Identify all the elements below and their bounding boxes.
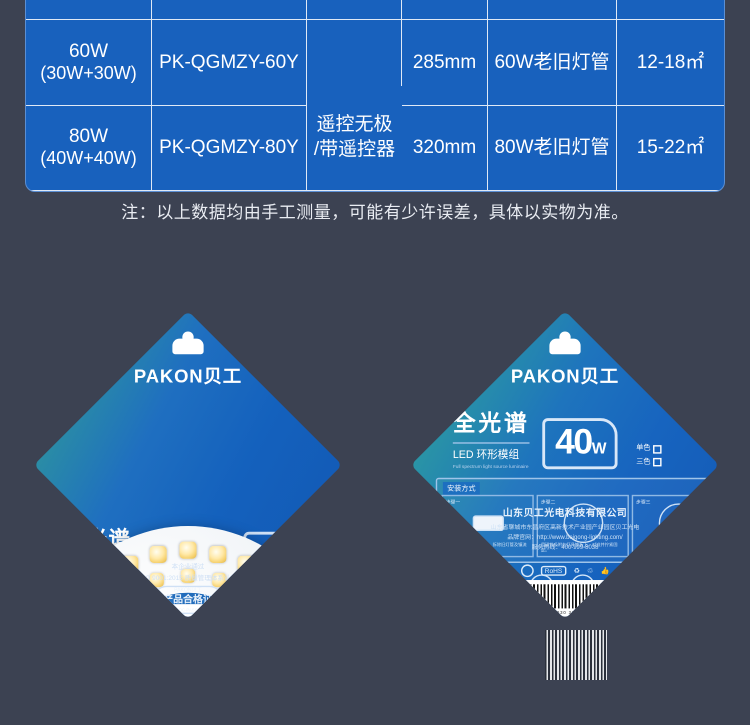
led-chip	[77, 596, 94, 613]
feature-icon-glyph: ¥	[570, 611, 594, 619]
led-chip	[150, 545, 167, 562]
cert-line-2: ISO 9001:2015 质量管理体系认证	[34, 572, 342, 582]
feature-icon-caption: 长寿命	[483, 600, 517, 607]
feature-icon: U超薄设计	[441, 574, 475, 607]
installation-title: 安装方式	[443, 482, 480, 495]
led-chip	[209, 545, 226, 562]
brand-logo-front: PAKON贝工	[34, 361, 342, 388]
cell-replace: 40W老旧灯管	[488, 0, 617, 19]
product-detail-page: 40W (20W+20W) PK-QGMZY-40S 三色变光 245mm 40…	[0, 0, 750, 725]
watt-options: 单色 三色	[306, 560, 319, 579]
cell-replace: 60W老旧灯管	[488, 20, 617, 104]
back-title-group: 全光谱 LED 环形模组 Full spectrum light source …	[453, 404, 530, 469]
led-chip	[122, 588, 136, 602]
barcode-bars	[520, 584, 611, 608]
power-main: 60W	[69, 41, 108, 63]
watt-number: 40	[555, 422, 592, 463]
step-title: 步骤一	[446, 498, 460, 505]
quality-seal: PAKON贝工 产品合格证 QC-PASS	[153, 586, 224, 614]
step-title: 步骤三	[636, 498, 650, 505]
cell-area: 15-22㎡	[617, 106, 724, 190]
cell-size: 285mm	[402, 20, 488, 104]
watt-unit: W	[592, 441, 607, 458]
power-sub: (40W+40W)	[40, 148, 137, 169]
company-name: 山东贝工光电科技有限公司	[411, 506, 719, 520]
power-main: 80W	[69, 126, 108, 148]
brand-logo-back: PAKON贝工	[411, 361, 719, 388]
option-single-label: 单色	[636, 442, 650, 455]
table-note: 注：以上数据均由手工测量，可能有少许误差，具体以实物为准。	[0, 198, 750, 223]
electric-shock-warning-icon: 当心触电	[626, 587, 663, 619]
wattage-tag-back: 40 W	[542, 418, 618, 469]
led-chip	[100, 610, 114, 620]
led-chip	[261, 610, 275, 620]
watt-unit: W	[288, 554, 301, 570]
cell-replace: 80W老旧灯管	[488, 106, 617, 190]
thumbs-up-icon: 👍	[601, 567, 610, 576]
led-chip	[239, 588, 253, 602]
cell-mode-merged-top	[307, 20, 402, 104]
color-option-checkboxes: 单色 三色	[636, 442, 662, 469]
barcode-number: 6 973030 334918	[520, 610, 611, 616]
company-phone: 服务热线：400-999-8038	[411, 543, 719, 552]
back-subtitle: LED 环形模组	[453, 442, 530, 462]
seal-sub: QC-PASS	[179, 607, 198, 613]
warning-title: 注意事项	[626, 572, 719, 585]
checkbox-single[interactable]	[653, 445, 662, 454]
feature-icon-glyph: U	[446, 574, 470, 598]
cell-mode-merged-bottom	[307, 106, 402, 190]
feature-icon-glyph: ▨	[446, 611, 470, 619]
company-info: 山东贝工光电科技有限公司 山东省聊城市东昌府区高新技术产业园产业园区贝工光电 品…	[411, 506, 719, 551]
back-title: 全光谱	[453, 404, 530, 438]
package-front-diamond: PAKON贝工 全光谱 LED 环形模组 40 W 单色 三色	[34, 311, 342, 619]
feature-icon-glyph: ♁	[529, 611, 553, 619]
feature-icon-glyph: ∿	[488, 611, 512, 619]
step-caption: 将光源模组线接入驱动电源，接通电源。	[636, 549, 719, 555]
table-row: 80W (40W+40W) PK-QGMZY-80Y 320mm 80W老旧灯管…	[26, 106, 724, 191]
cell-size: 320mm	[402, 106, 488, 190]
cell-power: 60W (30W+30W)	[26, 20, 152, 104]
opt-tri: 三色	[306, 570, 319, 580]
warning-section: 注意事项 当心触电 1、安装维修前务必切断电源，务必由专业电工或具备资质人员操作…	[626, 572, 719, 620]
cell-size: 245mm	[402, 0, 488, 19]
certification-footer: 本企业通过 ISO 9001:2015 质量管理体系认证	[34, 562, 342, 583]
warning-body: 1、安装维修前务必切断电源，务必由专业电工或具备资质人员操作，带电操作有触电危险…	[672, 583, 720, 609]
company-website: 品牌官网：http://www.beigong-lighting.com/	[411, 533, 719, 542]
ccc-mark-icon	[521, 564, 534, 577]
feature-icon: ♁高光效	[524, 611, 558, 619]
rohs-mark: RoHS	[541, 566, 567, 576]
recycle-icon-2: ♲	[587, 567, 593, 576]
opt-single: 单色	[306, 560, 319, 570]
feature-icon: ▨无蓝光	[441, 611, 475, 619]
feature-icon: ◴长寿命	[483, 574, 517, 607]
package-back-image: PAKON贝工 全光谱 LED 环形模组 Full spectrum light…	[410, 310, 720, 620]
feature-icon-glyph: ◴	[488, 574, 512, 598]
company-address: 山东省聊城市东昌府区高新技术产业园产业园区贝工光电	[411, 523, 719, 532]
option-tri-label: 三色	[636, 456, 650, 469]
cell-model: PK-QGMZY-60Y	[152, 20, 307, 104]
cell-power: 80W (40W+40W)	[26, 106, 152, 190]
feature-icon-caption: 超薄设计	[441, 600, 475, 607]
spec-table: 40W (20W+20W) PK-QGMZY-40S 三色变光 245mm 40…	[25, 0, 725, 192]
certification-marks: RoHS ♻ ♲ 👍	[411, 564, 719, 577]
spec-table-container: 40W (20W+20W) PK-QGMZY-40S 三色变光 245mm 40…	[25, 0, 725, 192]
seal-text: 产品合格证	[163, 594, 213, 608]
led-chip	[262, 573, 279, 590]
table-row: 60W (30W+30W) PK-QGMZY-60Y 285mm 60W老旧灯管…	[26, 20, 724, 105]
step-title: 步骤二	[541, 498, 555, 505]
cell-power: 40W (20W+20W)	[26, 0, 152, 19]
seal-brand: PAKON贝工	[174, 586, 202, 593]
outer-barcode-strip	[545, 630, 607, 680]
recycle-icon-1: ♻	[574, 567, 580, 576]
barcode: 6 973030 334918	[514, 580, 616, 617]
back-subtitle-en: Full spectrum light source luminaire	[453, 464, 530, 470]
cell-area: 10-15㎡	[617, 0, 724, 19]
led-chip	[179, 542, 196, 559]
package-back-diamond: PAKON贝工 全光谱 LED 环形模组 Full spectrum light…	[411, 311, 719, 619]
cell-model: PK-QGMZY-80Y	[152, 106, 307, 190]
feature-icon: ∿无频闪	[483, 611, 517, 619]
cell-mode: 三色变光	[307, 0, 402, 19]
package-front-image: PAKON贝工 全光谱 LED 环形模组 40 W 单色 三色	[33, 310, 343, 620]
led-chip	[282, 596, 299, 613]
cell-model: PK-QGMZY-40S	[152, 0, 307, 19]
power-sub: (30W+30W)	[40, 63, 137, 84]
hang-tab-icon	[549, 339, 580, 355]
back-header: 全光谱 LED 环形模组 Full spectrum light source …	[453, 404, 662, 469]
cell-area: 12-18㎡	[617, 20, 724, 104]
cert-line-1: 本企业通过	[34, 562, 342, 572]
led-chip	[97, 573, 114, 590]
hang-tab-icon	[172, 339, 203, 355]
warning-sign-label: 当心触电	[631, 613, 657, 619]
checkbox-tri[interactable]	[653, 458, 662, 467]
table-row: 40W (20W+20W) PK-QGMZY-40S 三色变光 245mm 40…	[26, 0, 724, 20]
